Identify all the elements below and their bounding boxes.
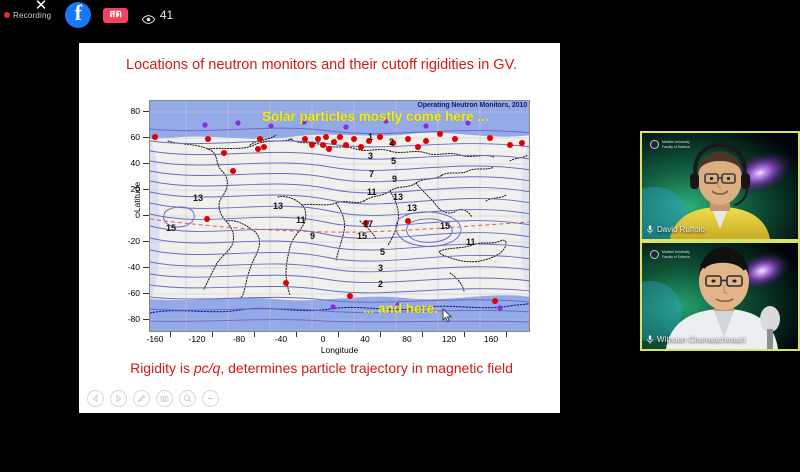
zoom-out-button[interactable] — [202, 390, 219, 407]
contour-label: 11 — [466, 237, 476, 247]
mic-icon — [647, 225, 653, 234]
x-tick-m160: -160 — [138, 334, 172, 344]
contour-map-plot[interactable]: Operating Neutron Monitors, 2010 — [149, 100, 530, 332]
annotation-bottom: ... and here. — [363, 301, 438, 316]
x-tick-80: 80 — [390, 334, 424, 344]
next-slide-button[interactable] — [110, 390, 127, 407]
mouse-cursor-icon — [442, 308, 453, 328]
recording-dot-icon — [4, 12, 10, 18]
university-seal-icon — [650, 140, 659, 149]
university-seal-icon — [650, 250, 659, 259]
contour-label: 9 — [392, 174, 397, 184]
close-x-icon[interactable]: ✕ — [32, 0, 50, 15]
caption-text-before: Rigidity is — [130, 360, 194, 376]
live-stream-topbar: Recording ✕ สด 41 — [0, 0, 800, 30]
contour-label: 13 — [407, 203, 417, 213]
y-tick-0: 0 — [112, 210, 140, 220]
slide-title: Locations of neutron monitors and their … — [79, 57, 564, 73]
live-badge: สด — [103, 8, 128, 23]
facebook-icon[interactable] — [65, 2, 91, 28]
y-tick-m40: -40 — [112, 262, 140, 272]
x-tick-0: 0 — [306, 334, 340, 344]
contour-label: 2 — [378, 279, 383, 289]
pen-tool-button[interactable] — [133, 390, 150, 407]
slide-caption: Rigidity is pc/q, determines particle tr… — [79, 360, 564, 376]
contour-label: 11 — [296, 215, 306, 225]
contour-label: 15 — [440, 221, 450, 231]
x-tick-160: 160 — [474, 334, 508, 344]
screen-root: Recording ✕ สด 41 Locations of neutron m… — [0, 0, 800, 472]
university-faculty: Faculty of Science — [662, 255, 690, 259]
university-name: Mahidol University — [662, 140, 690, 144]
chart-inline-title: Operating Neutron Monitors, 2010 — [417, 102, 527, 109]
eye-icon — [142, 11, 155, 20]
contour-label: 17 — [363, 219, 373, 229]
y-tick-80: 80 — [112, 106, 140, 116]
zoom-in-button[interactable] — [179, 390, 196, 407]
y-tick-m60: -60 — [112, 288, 140, 298]
x-tick-120: 120 — [432, 334, 466, 344]
y-tick-m80: -80 — [112, 314, 140, 324]
contour-label: 13 — [273, 201, 283, 211]
university-name: Mahidol University — [662, 250, 690, 254]
camera-button[interactable] — [156, 390, 173, 407]
y-tick-60: 60 — [112, 132, 140, 142]
contour-label: 13 — [393, 192, 403, 202]
caption-text-after: , determines particle trajectory in magn… — [220, 360, 513, 376]
contour-label: 1 — [368, 132, 373, 142]
y-tick-40: 40 — [112, 158, 140, 168]
contour-label: 13 — [193, 193, 203, 203]
viewer-count-group: 41 — [142, 8, 173, 22]
participant-tile-withoon-chunwachirasiri[interactable]: Mahidol University Faculty of Science Wi… — [640, 241, 800, 351]
contour-label: 2 — [389, 137, 394, 147]
contour-label: 5 — [391, 156, 396, 166]
y-tick-m20: -20 — [112, 236, 140, 246]
contour-label: 3 — [368, 151, 373, 161]
mic-icon — [647, 335, 653, 344]
contour-label: 5 — [380, 247, 385, 257]
contour-label: 15 — [166, 223, 176, 233]
viewer-count: 41 — [160, 8, 173, 22]
participant-name-tag: David Ruffolo — [647, 225, 705, 234]
x-tick-m80: -80 — [222, 334, 256, 344]
participant-tile-david-ruffolo[interactable]: Mahidol University Faculty of Science Da… — [640, 131, 800, 241]
prev-slide-button[interactable] — [87, 390, 104, 407]
contour-label: 3 — [378, 263, 383, 273]
university-faculty: Faculty of Science — [662, 145, 690, 149]
contour-label: 15 — [357, 231, 367, 241]
chart-area: Latitude 80 60 40 20 0 -20 -40 -60 -80 -… — [134, 100, 530, 355]
slide-toolbar — [87, 390, 219, 407]
caption-text-italic: pc/q — [194, 360, 220, 376]
participant-name: Withoon Chunwachirasiri — [657, 335, 745, 344]
university-logo: Mahidol University Faculty of Science — [650, 250, 690, 259]
contour-map-svg — [150, 101, 530, 332]
slide-panel[interactable]: Locations of neutron monitors and their … — [75, 43, 560, 413]
x-axis-label: Longitude — [149, 345, 530, 355]
x-tick-40: 40 — [348, 334, 382, 344]
university-logo: Mahidol University Faculty of Science — [650, 140, 690, 149]
participant-name: David Ruffolo — [657, 225, 705, 234]
contour-label: 7 — [369, 169, 374, 179]
annotation-top: Solar particles mostly come here ... — [262, 109, 489, 124]
y-tick-20: 20 — [112, 184, 140, 194]
x-tick-m120: -120 — [180, 334, 214, 344]
participant-name-tag: Withoon Chunwachirasiri — [647, 335, 745, 344]
contour-label: 9 — [310, 231, 315, 241]
x-tick-m40: -40 — [264, 334, 298, 344]
contour-label: 11 — [367, 187, 377, 197]
